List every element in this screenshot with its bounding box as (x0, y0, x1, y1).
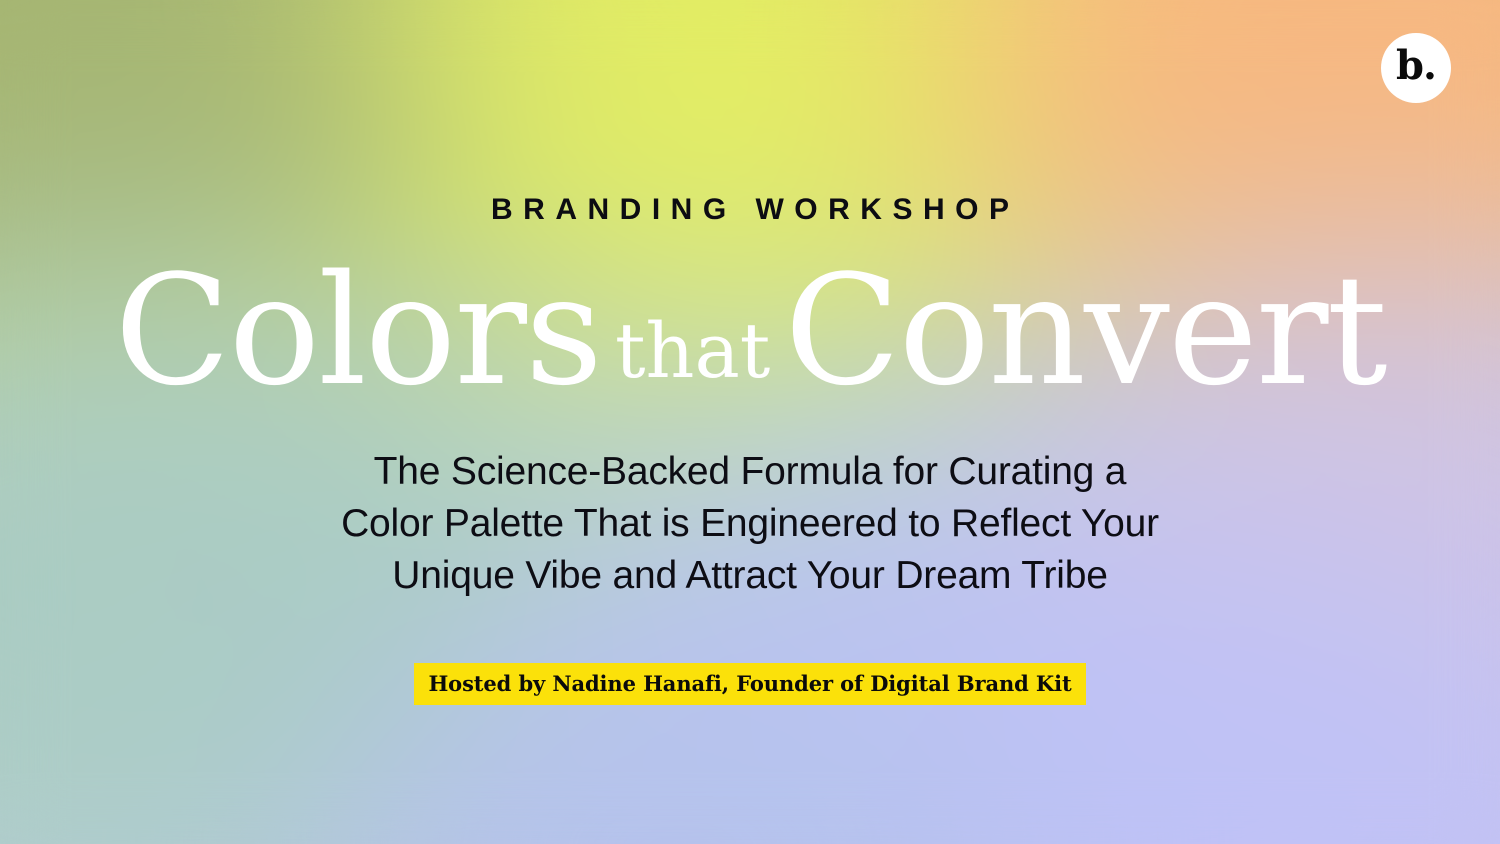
subtitle: The Science-Backed Formula for Curating … (341, 446, 1159, 602)
subtitle-line-2: Color Palette That is Engineered to Refl… (341, 498, 1159, 550)
page-title: ColorsthatConvert (114, 258, 1385, 404)
brand-logo-badge: b. (1381, 33, 1451, 103)
slide-content: BRANDING WORKSHOP ColorsthatConvert The … (0, 0, 1500, 844)
subtitle-line-3: Unique Vibe and Attract Your Dream Tribe (341, 550, 1159, 602)
subtitle-line-1: The Science-Backed Formula for Curating … (341, 446, 1159, 498)
brand-b-logo-icon: b. (1396, 46, 1436, 86)
host-credit-wrapper: Hosted by Nadine Hanafi, Founder of Digi… (414, 663, 1085, 705)
title-word-convert: Convert (784, 242, 1385, 419)
eyebrow-label: BRANDING WORKSHOP (481, 195, 1020, 225)
title-word-that: that (601, 306, 784, 395)
workshop-title-slide: b. BRANDING WORKSHOP ColorsthatConvert T… (0, 0, 1500, 844)
host-credit-badge: Hosted by Nadine Hanafi, Founder of Digi… (414, 663, 1085, 705)
title-word-colors: Colors (114, 242, 601, 419)
